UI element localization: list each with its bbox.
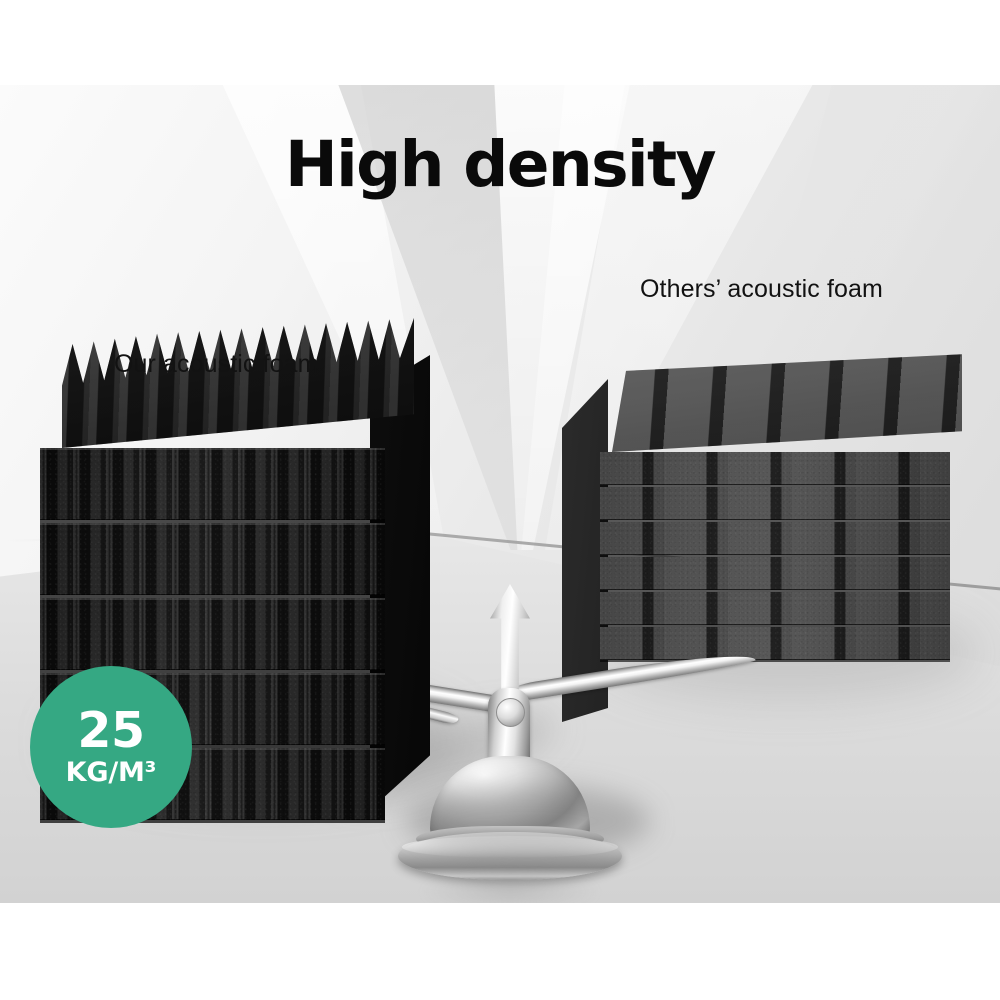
shadow-under-scale-base [405,785,650,857]
others-foam-layer [600,487,950,520]
our-foam-layer [40,598,385,670]
label-our-acoustic-foam: Our acoustic foam [114,350,319,379]
label-others-acoustic-foam: Others’ acoustic foam [640,275,883,304]
scale-pointer-arrow-icon [490,584,530,699]
density-badge-unit: KG/M³ [66,759,157,786]
scale-arm-right [507,647,757,703]
scale-pivot-boss [496,698,525,727]
our-foam-layer [40,523,385,595]
density-badge-value: 25 [77,708,144,753]
our-foam-layer [40,448,385,520]
page-title: High density [0,128,1000,201]
density-badge: 25 KG/M³ [30,666,192,828]
others-foam-layer [600,522,950,555]
others-foam-layer [600,452,950,485]
marketing-image: High density Others’ acoustic foam Our a… [0,0,1000,1000]
